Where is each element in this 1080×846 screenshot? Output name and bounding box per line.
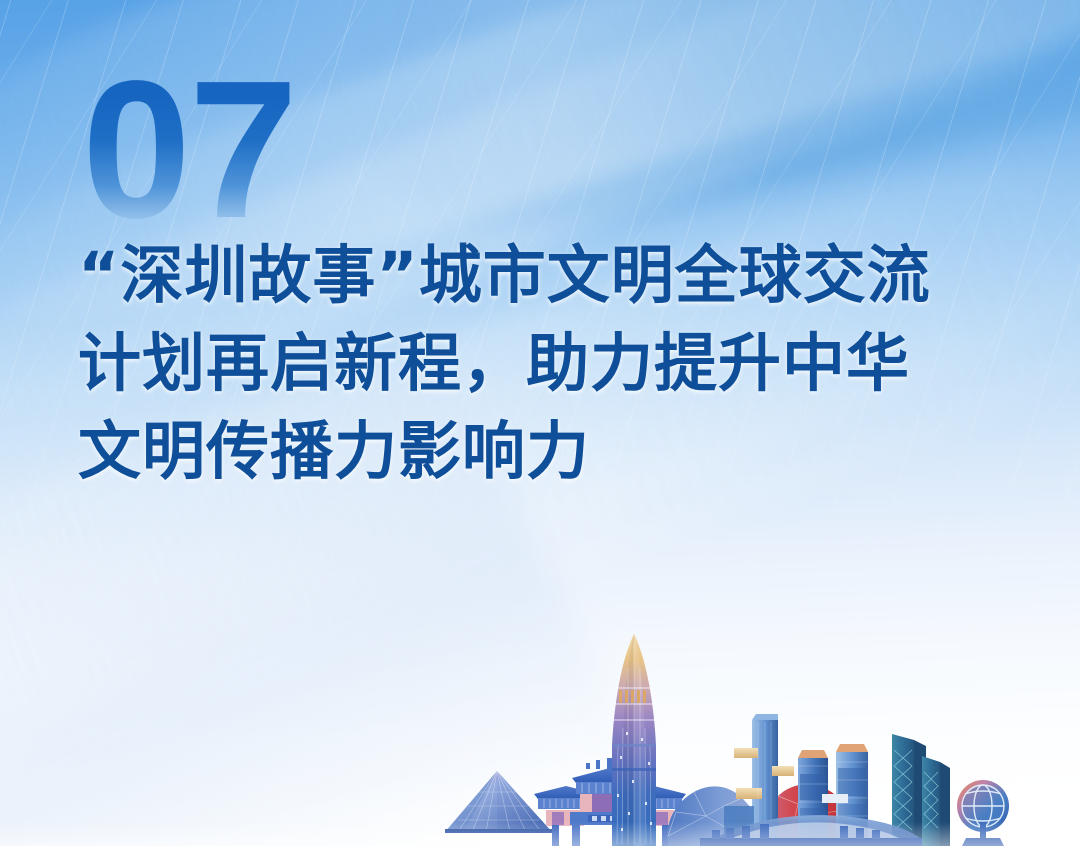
title-line-1: “深圳故事”城市文明全球交流 xyxy=(78,232,1018,320)
section-number: 07 xyxy=(82,52,296,248)
title-line-3: 文明传播力影响力 xyxy=(78,408,1018,496)
poster-canvas: 07 “深圳故事”城市文明全球交流 计划再启新程，助力提升中华 文明传播力影响力 xyxy=(0,0,1080,846)
page-title: “深圳故事”城市文明全球交流 计划再启新程，助力提升中华 文明传播力影响力 xyxy=(78,232,1018,496)
title-line-2: 计划再启新程，助力提升中华 xyxy=(78,320,1018,408)
